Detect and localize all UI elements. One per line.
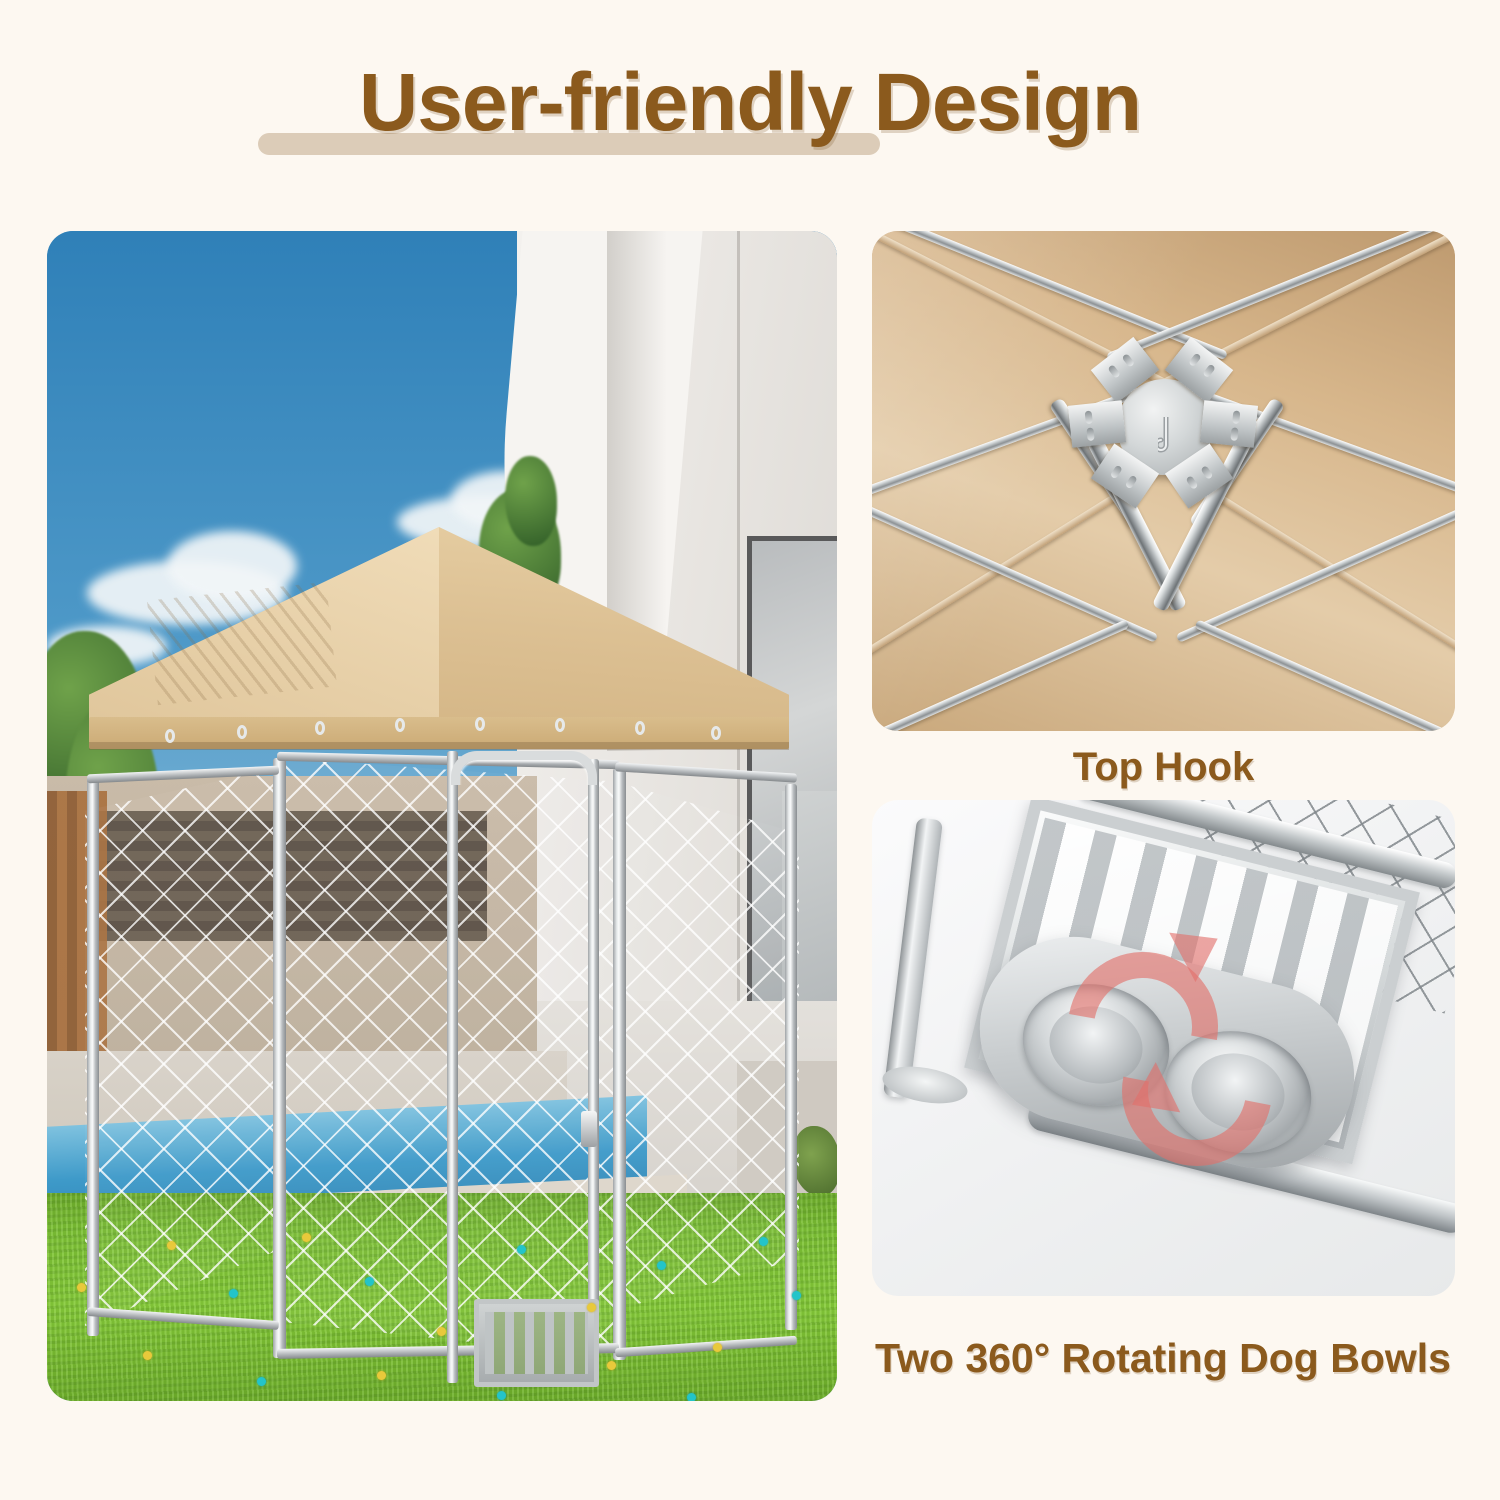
kennel-corner-post — [87, 776, 99, 1336]
eye-hook — [711, 726, 721, 740]
kennel-bottom-rail — [87, 1307, 279, 1330]
flower — [517, 1245, 526, 1254]
flower — [229, 1289, 238, 1298]
gate-louvered-panel — [474, 1299, 599, 1387]
flower — [77, 1283, 86, 1292]
gate-arched-frame — [451, 751, 597, 785]
caption-dog-bowls: Two 360° Rotating Dog Bowls — [858, 1335, 1468, 1382]
kennel-vertical-post — [883, 817, 943, 1098]
hub-flange — [1200, 400, 1258, 447]
gate-latch[interactable] — [581, 1111, 597, 1147]
gate-post-left — [447, 751, 458, 1383]
kennel-structure — [77, 746, 802, 1386]
flower — [657, 1261, 666, 1270]
hook-icon — [1158, 417, 1174, 463]
flower — [302, 1233, 311, 1242]
kennel-corner-post — [785, 784, 797, 1330]
flower — [497, 1391, 506, 1400]
top-hook-photo[interactable] — [872, 231, 1455, 731]
branch-shadow — [147, 582, 337, 705]
post-base-plate — [880, 1061, 971, 1109]
chain-link-mesh-left — [85, 766, 285, 1326]
eye-hook — [165, 729, 175, 743]
chain-link-mesh-right — [619, 766, 799, 1326]
eye-hook — [555, 718, 565, 732]
flower — [687, 1393, 696, 1401]
flower — [587, 1303, 596, 1312]
gate-post-right — [588, 759, 599, 1383]
flower — [792, 1291, 801, 1300]
flower — [437, 1327, 446, 1336]
kennel-corner-post — [273, 758, 286, 1358]
flower — [759, 1237, 768, 1246]
flower — [143, 1351, 152, 1360]
tree — [505, 456, 557, 546]
dog-bowls-photo[interactable] — [872, 800, 1455, 1296]
flower — [607, 1361, 616, 1370]
kennel-corner-post — [613, 768, 626, 1360]
flower — [377, 1371, 386, 1380]
eye-hook — [635, 721, 645, 735]
canopy-underside — [872, 231, 1455, 731]
hub-flange — [1068, 400, 1126, 447]
page-title-block: User-friendly Design — [0, 52, 1500, 162]
kennel-bottom-rail — [615, 1336, 797, 1358]
kennel-top-rail — [615, 762, 797, 782]
eye-hook — [475, 717, 485, 731]
flower — [713, 1343, 722, 1352]
flower — [365, 1277, 374, 1286]
flower — [167, 1241, 176, 1250]
page-title: User-friendly Design — [0, 52, 1500, 154]
flower — [257, 1377, 266, 1386]
caption-top-hook: Top Hook — [872, 745, 1455, 790]
eye-hook — [237, 725, 247, 739]
eye-hook — [395, 718, 405, 732]
eye-hook — [315, 721, 325, 735]
main-product-photo[interactable] — [47, 231, 837, 1401]
